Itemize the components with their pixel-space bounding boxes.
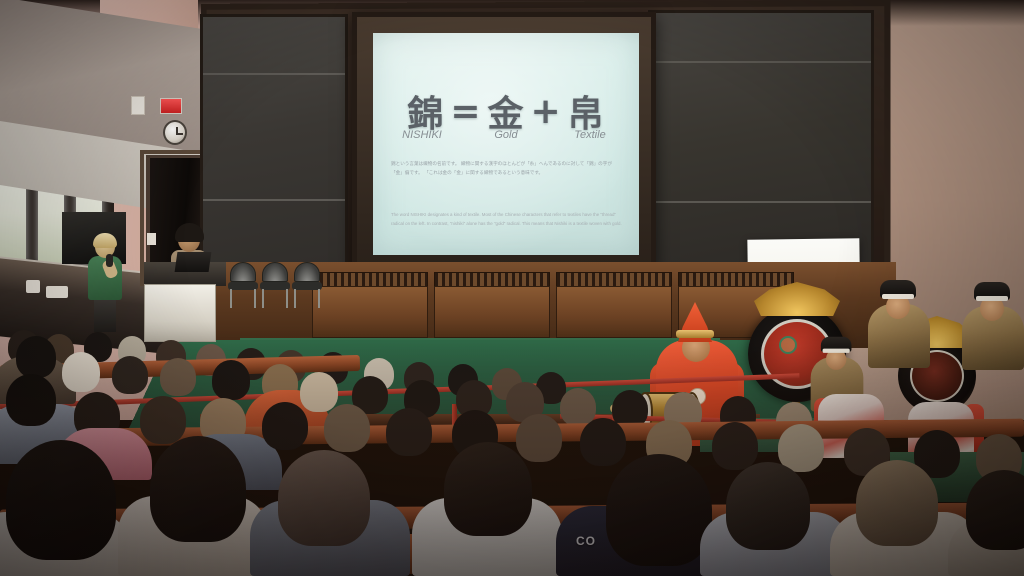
folding-chair[interactable] xyxy=(228,262,258,308)
audience-head xyxy=(6,374,56,426)
exit-sign-icon xyxy=(160,98,182,114)
audience-head xyxy=(300,372,338,412)
audience-head xyxy=(160,358,196,396)
audience-head xyxy=(262,402,308,450)
audience-head xyxy=(6,440,116,560)
laptop-icon[interactable] xyxy=(175,252,212,272)
audience-head xyxy=(150,436,246,542)
audience-head xyxy=(278,450,370,546)
seated-musician xyxy=(868,282,930,368)
light-switch-plate[interactable] xyxy=(147,233,156,245)
slide-body-english: The word NISHIKI designates a kind of te… xyxy=(391,211,627,228)
audience-head xyxy=(516,414,562,462)
shirt-text: CO xyxy=(576,534,596,548)
microphone-icon xyxy=(106,254,113,267)
presenter-speaker xyxy=(84,236,126,332)
stage-panel xyxy=(312,286,428,338)
stage-panel xyxy=(434,286,550,338)
equals-sign: = xyxy=(450,91,481,132)
audience-head xyxy=(140,396,186,444)
slide-body-japanese: 錦という言葉は織物の名前です。 織物に関する漢字のほとんどが「糸」へんであるのに… xyxy=(391,161,621,179)
audience-head xyxy=(212,360,250,400)
gloss-textile: Textile xyxy=(559,129,621,141)
ledge-object xyxy=(46,286,68,298)
audience-head xyxy=(324,404,370,452)
auditorium-photo: 錦 = 金 + 帛 NISHIKI Gold Textile 錦という言葉は織物… xyxy=(0,0,1024,576)
drum-crest-icon xyxy=(779,336,797,354)
audience-head xyxy=(726,462,810,550)
gloss-gold: Gold xyxy=(475,129,537,141)
audience-head xyxy=(112,356,148,394)
projection-screen-frame: 錦 = 金 + 帛 NISHIKI Gold Textile 錦という言葉は織物… xyxy=(352,12,656,270)
plus-sign: + xyxy=(531,91,562,132)
audience-head xyxy=(444,442,532,536)
gloss-nishiki: NISHIKI xyxy=(391,129,453,141)
folding-chair[interactable] xyxy=(292,262,322,308)
folding-chair[interactable] xyxy=(260,262,290,308)
audience-head xyxy=(62,352,100,392)
podium xyxy=(144,284,216,342)
seated-musician xyxy=(962,284,1024,370)
audience-head xyxy=(606,454,712,566)
projection-screen: 錦 = 金 + 帛 NISHIKI Gold Textile 錦という言葉は織物… xyxy=(373,33,639,255)
audience-head xyxy=(16,336,56,378)
audience-head xyxy=(856,460,938,546)
wall-clock-icon xyxy=(163,120,187,145)
wall-plate xyxy=(131,96,145,115)
ledge-object xyxy=(26,280,40,293)
audience-head xyxy=(580,418,626,466)
audience-head xyxy=(386,408,432,456)
stage-panel xyxy=(556,286,672,338)
audience-head xyxy=(712,422,758,470)
slide-glosses: NISHIKI Gold Textile xyxy=(373,129,639,141)
chalkboard-left xyxy=(200,14,348,280)
